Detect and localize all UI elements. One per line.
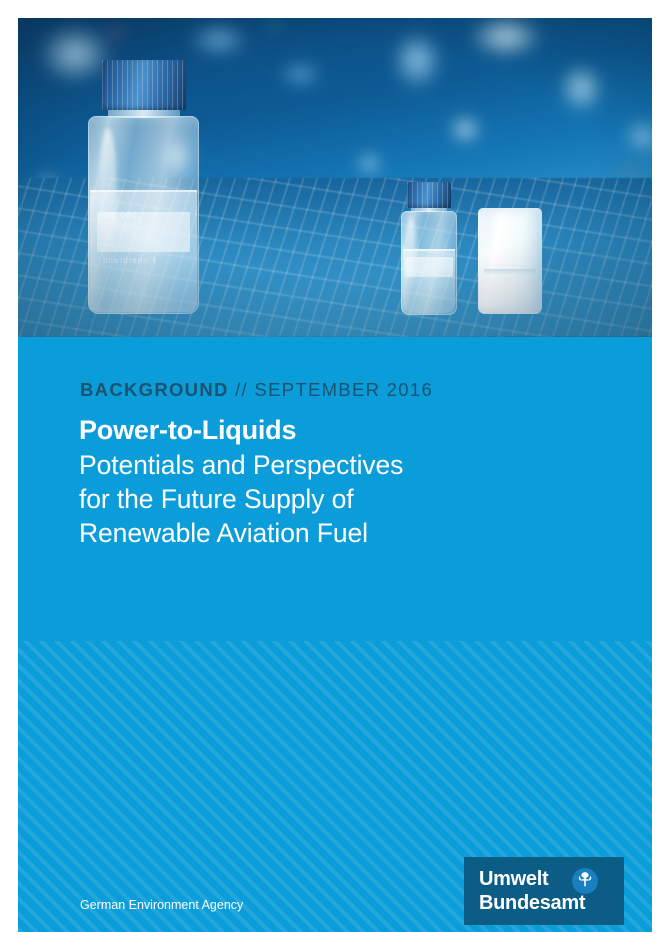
kicker-category: BACKGROUND	[80, 379, 229, 400]
logo-line-2: Bundesamt	[479, 891, 585, 915]
subtitle-line-2: for the Future Supply of	[79, 482, 403, 516]
cyan-content-panel: BACKGROUND // SEPTEMBER 2016 Power-to-Li…	[18, 337, 652, 932]
cover-photo: 250 ml Fisherbrand	[18, 18, 652, 337]
kicker-date: // SEPTEMBER 2016	[229, 379, 433, 400]
photo-vignette	[18, 18, 652, 337]
logo-line-1: Umwelt	[479, 867, 585, 891]
kicker-line: BACKGROUND // SEPTEMBER 2016	[80, 379, 433, 401]
page-title: Power-to-Liquids	[79, 415, 296, 446]
page-subtitle: Potentials and Perspectives for the Futu…	[79, 448, 403, 550]
umweltbundesamt-logo: Umwelt Bundesamt	[464, 857, 624, 925]
subtitle-line-3: Renewable Aviation Fuel	[79, 516, 403, 550]
subtitle-line-1: Potentials and Perspectives	[79, 448, 403, 482]
logo-wordmark: Umwelt Bundesamt	[479, 867, 585, 915]
cover-page: 250 ml Fisherbrand BACKGROUND // SEPTEMB…	[0, 0, 670, 949]
agency-name: German Environment Agency	[80, 898, 243, 912]
umweltbundesamt-emblem-icon	[572, 868, 598, 894]
